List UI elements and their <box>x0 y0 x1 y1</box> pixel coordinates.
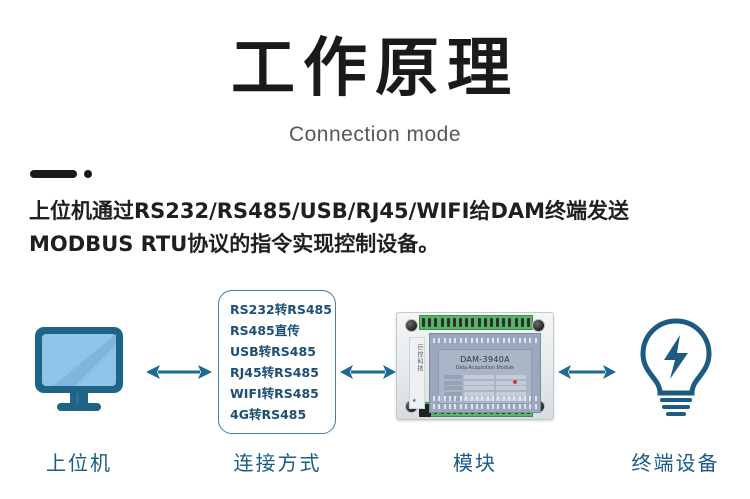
dam-module-icon: 巨控科技 ★ DAM-3940A Data Acquisition Module <box>390 306 560 428</box>
diagram-node-module: 巨控科技 ★ DAM-3940A Data Acquisition Module <box>390 288 560 448</box>
page-title: 工作原理 <box>0 32 750 106</box>
module-pin-row <box>433 396 537 401</box>
dot-icon <box>84 170 92 178</box>
description-text: 上位机通过RS232/RS485/USB/RJ45/WIFI给DAM终端发送 M… <box>29 195 729 261</box>
module-power-led-icon <box>513 380 517 384</box>
connection-method-item: USB转RS485 <box>219 341 335 362</box>
module-screw <box>532 319 545 332</box>
diagram-node-connection: RS232转RS485 RS485直传 USB转RS485 RJ45转RS485… <box>210 288 345 448</box>
double-arrow-icon <box>146 360 212 384</box>
module-side-panel: 巨控科技 ★ <box>409 337 425 409</box>
dash-icon <box>30 170 77 178</box>
connection-method-item: RS485直传 <box>219 320 335 341</box>
module-faceplate: DAM-3940A Data Acquisition Module <box>429 333 541 413</box>
arrow-host-connection <box>146 360 212 384</box>
module-pin-row <box>433 404 537 409</box>
node-caption-connection: 连接方式 <box>210 448 345 478</box>
lightbulb-icon <box>608 306 743 428</box>
monitor-icon-svg <box>29 321 129 416</box>
module-side-text: 巨控科技 <box>412 344 424 390</box>
monitor-icon <box>14 308 144 428</box>
connection-method-item: RS232转RS485 <box>219 299 335 320</box>
arrow-connection-module <box>340 360 396 384</box>
module-screw <box>405 319 418 332</box>
description-line-1: 上位机通过RS232/RS485/USB/RJ45/WIFI给DAM终端发送 <box>29 195 729 228</box>
module-body: 巨控科技 ★ DAM-3940A Data Acquisition Module <box>396 312 554 420</box>
node-caption-module: 模块 <box>390 448 560 478</box>
connection-diagram: 上位机 RS232转RS485 RS485直传 USB转RS485 RJ45转R… <box>0 288 750 499</box>
diagram-node-terminal: 终端设备 <box>608 288 743 448</box>
double-arrow-icon <box>340 360 396 384</box>
work-principle-page: 工作原理 Connection mode 上位机通过RS232/RS485/US… <box>0 0 750 499</box>
connection-methods-box: RS232转RS485 RS485直传 USB转RS485 RJ45转RS485… <box>218 290 336 434</box>
module-terminal-top <box>419 315 533 330</box>
node-caption-terminal: 终端设备 <box>608 448 743 478</box>
connection-method-item: WIFI转RS485 <box>219 383 335 404</box>
module-logo-icon: ★ <box>412 398 416 404</box>
module-model: DAM-3940A <box>439 355 531 365</box>
node-caption-host: 上位机 <box>14 448 144 478</box>
page-subtitle: Connection mode <box>0 122 750 148</box>
lightbulb-icon-svg <box>633 315 719 419</box>
diagram-node-host: 上位机 <box>14 288 144 448</box>
connection-method-item: 4G转RS485 <box>219 404 335 425</box>
module-pin-row <box>433 338 537 343</box>
connection-method-item: RJ45转RS485 <box>219 362 335 383</box>
module-subtitle: Data Acquisition Module <box>439 365 531 372</box>
description-line-2: MODBUS RTU协议的指令实现控制设备。 <box>29 228 729 261</box>
bullet-decoration <box>30 170 92 178</box>
